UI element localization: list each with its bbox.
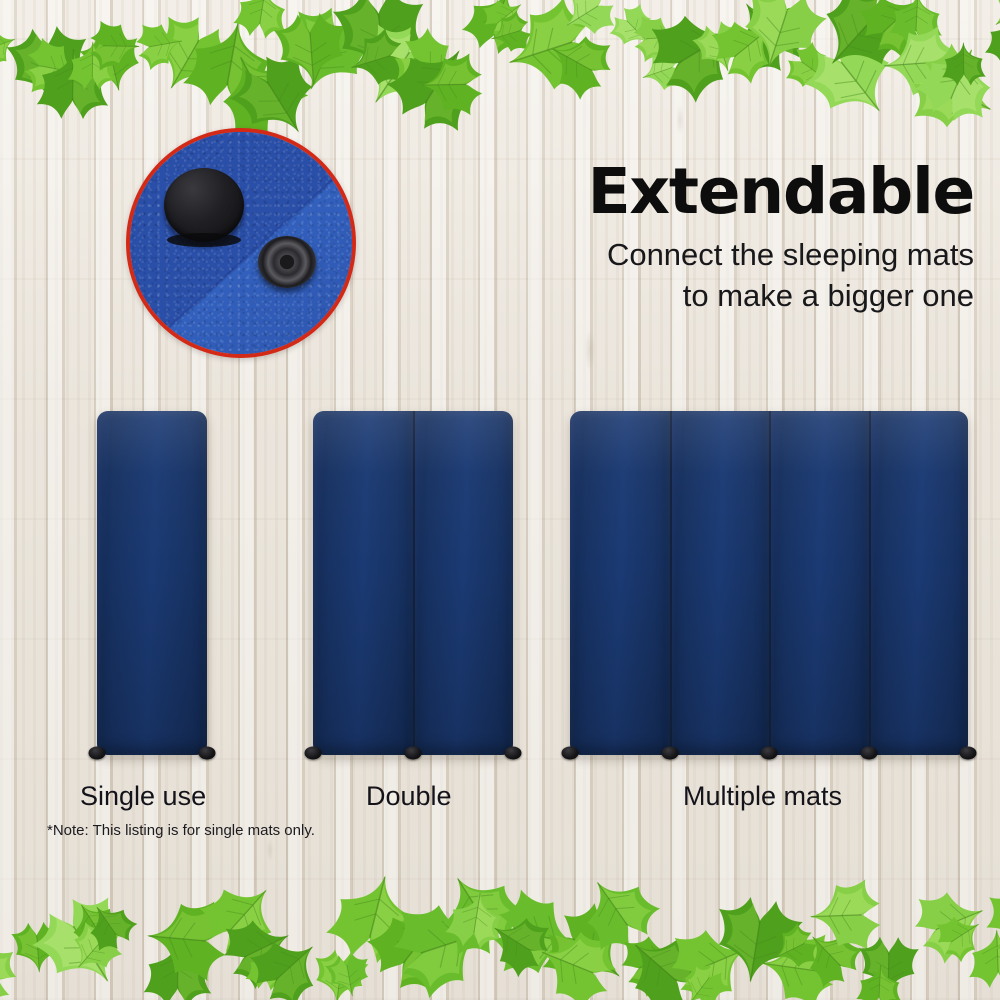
snap-button [505, 747, 522, 760]
mat-caption-multiple: Multiple mats [683, 781, 842, 812]
mat-caption-single: Single use [80, 781, 206, 812]
snap-button [761, 747, 778, 760]
mat-panel [413, 411, 513, 755]
fabric-noise [130, 132, 352, 354]
mat-group-double [313, 411, 513, 755]
subtitle-line-2: to make a bigger one [504, 276, 974, 317]
mat-panel [313, 411, 413, 755]
mat-panel [570, 411, 670, 755]
mat-panel [869, 411, 969, 755]
subtitle-line-1: Connect the sleeping mats [504, 235, 974, 276]
snap-button [562, 747, 579, 760]
snap-button [305, 747, 322, 760]
mat-panel [670, 411, 770, 755]
snap-button [661, 747, 678, 760]
snap-button [89, 747, 106, 760]
snap-socket-icon [258, 236, 316, 288]
disclaimer-note: *Note: This listing is for single mats o… [47, 822, 315, 839]
snap-button-closeup-inset [126, 128, 356, 358]
page-title: Extendable [504, 160, 974, 223]
mat-group-single [97, 411, 207, 755]
snap-button [405, 747, 422, 760]
mat-caption-double: Double [366, 781, 452, 812]
mat-group-multiple [570, 411, 968, 755]
snap-button [860, 747, 877, 760]
headline-block: Extendable Connect the sleeping mats to … [504, 160, 974, 317]
snap-cap-icon [164, 168, 244, 242]
snap-button [199, 747, 216, 760]
mat-panel [769, 411, 869, 755]
product-feature-image: Extendable Connect the sleeping mats to … [0, 0, 1000, 1000]
snap-button [960, 747, 977, 760]
mat-panel [97, 411, 207, 755]
